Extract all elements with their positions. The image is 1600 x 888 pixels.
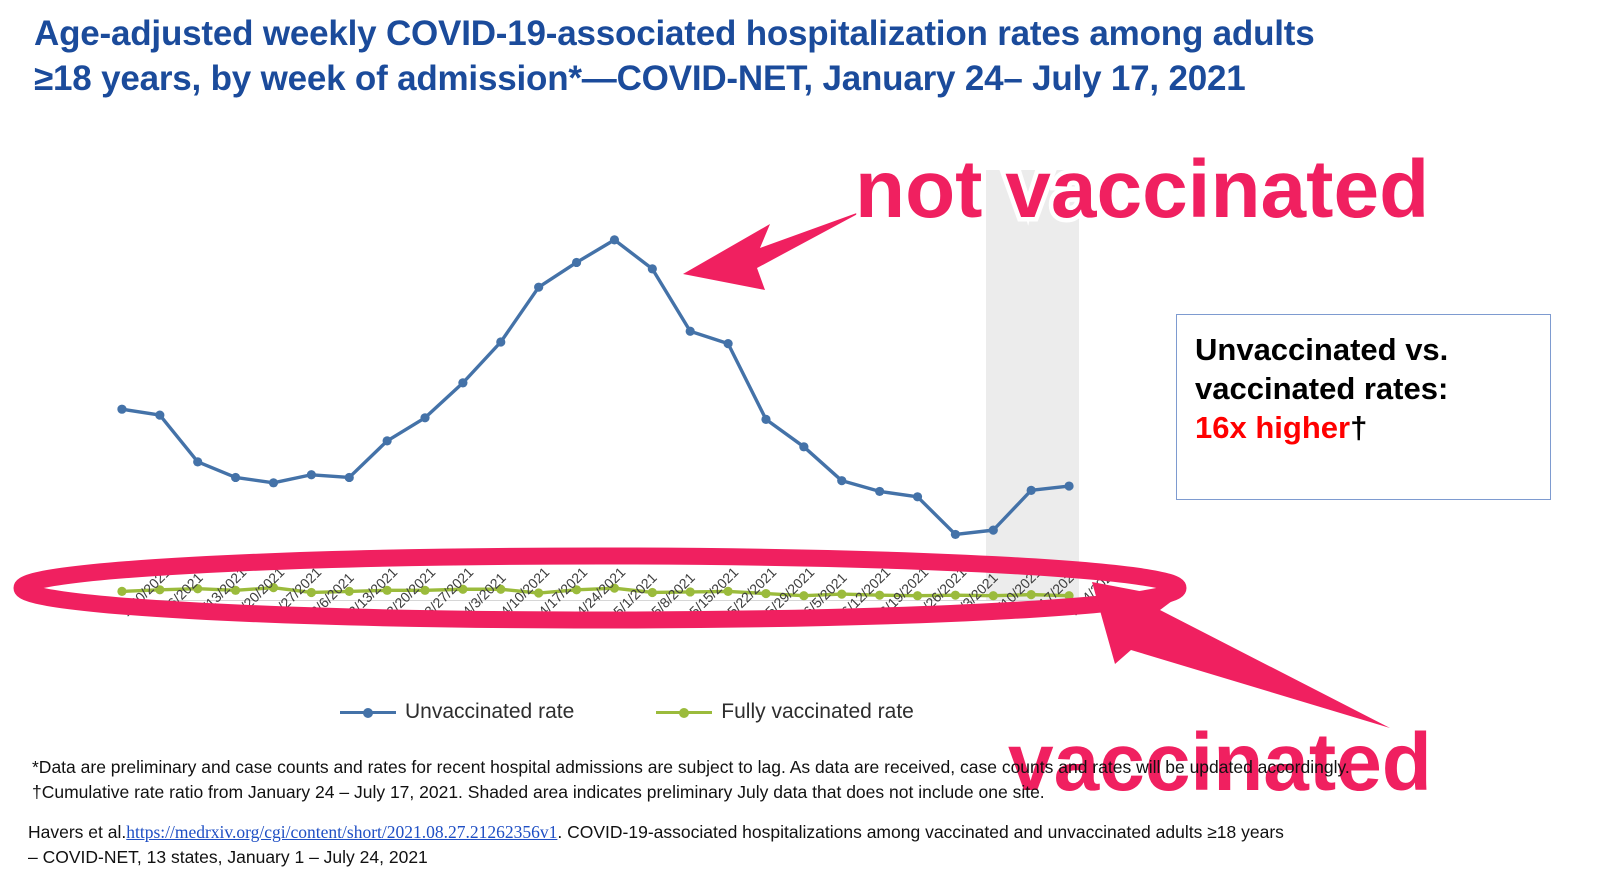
data-point xyxy=(534,283,543,292)
data-point xyxy=(875,487,884,496)
data-point xyxy=(913,492,922,501)
legend-marker-vaccinated-icon xyxy=(656,705,712,719)
data-point xyxy=(420,413,429,422)
data-point xyxy=(723,339,732,348)
data-point xyxy=(269,478,278,487)
series-line-unvaccinated xyxy=(122,240,1069,535)
data-point xyxy=(951,530,960,539)
data-point xyxy=(383,436,392,445)
data-point xyxy=(761,415,770,424)
legend-marker-unvaccinated-icon xyxy=(340,705,396,719)
chart-legend: Unvaccinated rate Fully vaccinated rate xyxy=(340,700,914,724)
citation: Havers et al.https://medrxiv.org/cgi/con… xyxy=(28,820,1573,871)
citation-link[interactable]: https://medrxiv.org/cgi/content/short/20… xyxy=(126,822,557,842)
data-point xyxy=(345,473,354,482)
legend-item-unvaccinated[interactable]: Unvaccinated rate xyxy=(340,700,574,724)
legend-label-unvaccinated: Unvaccinated rate xyxy=(405,700,574,724)
data-point xyxy=(496,337,505,346)
data-point xyxy=(913,591,922,600)
callout-dagger: † xyxy=(1350,410,1367,445)
data-point xyxy=(799,591,808,600)
data-point xyxy=(989,526,998,535)
footnote-line-1: *Data are preliminary and case counts an… xyxy=(32,755,1572,780)
data-point xyxy=(117,587,126,596)
data-point xyxy=(1064,481,1073,490)
callout-ratio-value: 16x higher xyxy=(1195,410,1350,445)
legend-item-vaccinated[interactable]: Fully vaccinated rate xyxy=(656,700,914,724)
data-point xyxy=(572,258,581,267)
data-point xyxy=(458,378,467,387)
title-line-2: ≥18 years, by week of admission*—COVID-N… xyxy=(34,57,1579,102)
title-line-1: Age-adjusted weekly COVID-19-associated … xyxy=(34,14,1315,53)
data-point xyxy=(155,411,164,420)
callout-ratio: 16x higher† xyxy=(1195,409,1550,448)
data-point xyxy=(117,405,126,414)
vaccinated-arrow-icon xyxy=(1092,582,1390,728)
footnotes: *Data are preliminary and case counts an… xyxy=(32,755,1572,805)
page-title: Age-adjusted weekly COVID-19-associated … xyxy=(34,12,1579,102)
data-point xyxy=(1027,486,1036,495)
data-point xyxy=(231,473,240,482)
citation-prefix: Havers et al. xyxy=(28,822,126,842)
data-point xyxy=(193,457,202,466)
annotation-not-vaccinated: not vaccinated xyxy=(855,143,1429,237)
ratio-callout-box: Unvaccinated vs. vaccinated rates: 16x h… xyxy=(1176,314,1551,500)
callout-line-1: Unvaccinated vs. xyxy=(1195,331,1550,370)
slide-root: Age-adjusted weekly COVID-19-associated … xyxy=(0,0,1600,888)
data-point xyxy=(686,327,695,336)
legend-label-vaccinated: Fully vaccinated rate xyxy=(721,700,914,724)
data-point xyxy=(648,264,657,273)
data-point xyxy=(799,442,808,451)
data-point xyxy=(610,235,619,244)
data-point xyxy=(307,470,316,479)
callout-line-2: vaccinated rates: xyxy=(1195,370,1550,409)
citation-line-2: – COVID-NET, 13 states, January 1 – July… xyxy=(28,845,1573,870)
footnote-line-2: †Cumulative rate ratio from January 24 –… xyxy=(32,780,1572,805)
data-point xyxy=(837,476,846,485)
citation-suffix: . COVID-19-associated hospitalizations a… xyxy=(557,822,1284,842)
